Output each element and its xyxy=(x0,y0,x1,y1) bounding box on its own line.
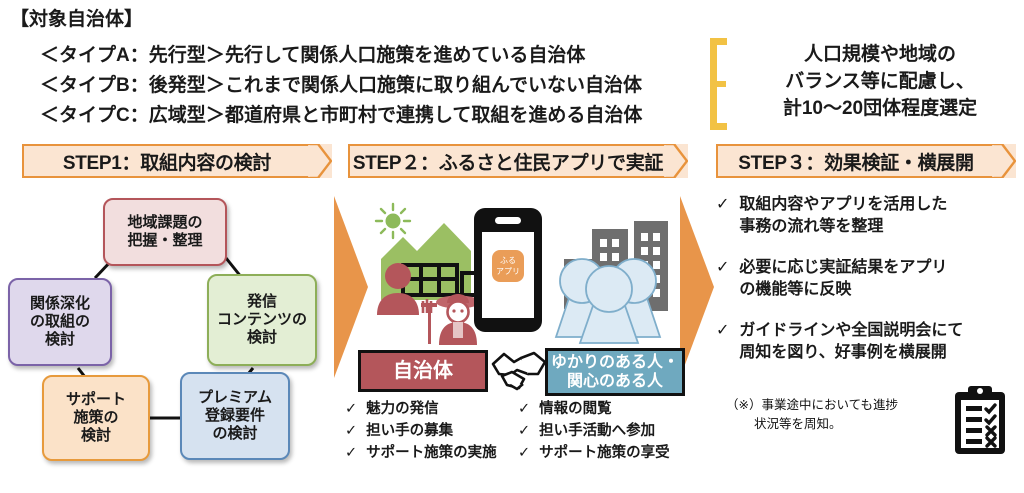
list-item-label: サポート施策の享受 xyxy=(539,442,670,464)
list-item: ✓サポート施策の実施 xyxy=(345,442,497,464)
app-icon xyxy=(492,250,524,282)
flow-box-support-shisaku[interactable]: サポート 施策の 検討 xyxy=(42,375,150,461)
type-a-desc: 先行して関係人口施策を進めている自治体 xyxy=(225,40,585,67)
list-item-label: 必要に応じ実証結果をアプリ の機能等に反映 xyxy=(739,257,1016,301)
type-a-label: ＜タイプA：先行型＞ xyxy=(40,40,225,67)
step3-item3-line2: 周知を図り、好事例を横展開 xyxy=(739,344,946,361)
check-icon: ✓ xyxy=(716,320,729,364)
flow-box-support-line3: 検討 xyxy=(66,427,126,445)
label-jichitai: 自治体 xyxy=(393,359,453,383)
step3-item3-line1: ガイドラインや全国説明会にて xyxy=(739,322,963,339)
type-row-c: ＜タイプC：広域型＞都道府県と市町村で連携して取組を進める自治体 xyxy=(40,100,642,127)
selection-note-line1: 人口規模や地域の xyxy=(735,42,1024,69)
list-item: ✓ ガイドラインや全国説明会にて 周知を図り、好事例を横展開 xyxy=(716,320,1016,364)
sun-icon xyxy=(376,204,410,238)
curly-brace-icon xyxy=(700,38,726,130)
step3-item2-line1: 必要に応じ実証結果をアプリ xyxy=(739,259,947,276)
step-banner-3[interactable]: STEP３：効果検証・横展開 xyxy=(716,144,1016,178)
flow-box-premium-touroku[interactable]: プレミアム 登録要件 の検討 xyxy=(180,372,290,460)
step3-item1-line1: 取組内容やアプリを活用した xyxy=(739,196,947,213)
list-item-label: サポート施策の実施 xyxy=(366,442,497,464)
city-people-illustration xyxy=(552,197,682,350)
app-icon-line1: ふる xyxy=(500,256,516,265)
step3-footnote-line1: （※）事業途中においても進捗 xyxy=(726,398,898,412)
flow-box-premium-line3: の検討 xyxy=(198,425,272,443)
flow-box-kankei-line3: 検討 xyxy=(30,331,90,349)
selection-note-line2: バランス等に配慮し、 xyxy=(735,69,1024,96)
flow-box-hasshin-line1: 発信 xyxy=(217,293,307,311)
type-c-desc: 都道府県と市町村で連携して取組を進める自治体 xyxy=(225,100,642,127)
flow-box-premium-line2: 登録要件 xyxy=(198,407,272,425)
flow-box-premium-line1: プレミアム xyxy=(198,389,272,407)
list-item: ✓ 取組内容やアプリを活用した 事務の流れ等を整理 xyxy=(716,194,1016,238)
list-item-label: 担い手の募集 xyxy=(366,420,453,442)
check-icon: ✓ xyxy=(345,442,357,464)
step3-item2-line2: の機能等に反映 xyxy=(739,281,851,298)
flow-box-chiiki-line2: 把握・整理 xyxy=(127,232,202,250)
step-banner-1[interactable]: STEP1：取組内容の検討 xyxy=(22,144,332,178)
flow-box-chiiki-line1: 地域課題の xyxy=(127,214,202,232)
step3-footnote: （※）事業途中においても進捗 状況等を周知。 xyxy=(726,396,941,434)
check-icon: ✓ xyxy=(518,420,530,442)
handshake-icon xyxy=(490,348,548,401)
smartphone-illustration: ふる アプリ xyxy=(472,206,544,339)
slide-canvas: 【対象自治体】 ＜タイプA：先行型＞先行して関係人口施策を進めている自治体 ＜タ… xyxy=(0,0,1024,493)
step3-checklist: ✓ 取組内容やアプリを活用した 事務の流れ等を整理 ✓ 必要に応じ実証結果をアプ… xyxy=(716,194,1016,383)
type-c-label: ＜タイプC：広域型＞ xyxy=(40,100,225,127)
label-yukari-line1: ゆかりのある人・ xyxy=(551,353,679,372)
step-1-label: STEP1：取組内容の検討 xyxy=(22,148,332,175)
people-group-icon xyxy=(556,259,660,343)
type-b-desc: これまで関係人口施策に取り組んでいない自治体 xyxy=(225,70,642,97)
check-icon: ✓ xyxy=(345,398,357,420)
selection-note-line3: 計10〜20団体程度選定 xyxy=(735,96,1024,123)
flow-box-chiiki-kadai[interactable]: 地域課題の 把握・整理 xyxy=(103,198,227,266)
clipboard-checklist-icon xyxy=(952,384,1008,461)
check-icon: ✓ xyxy=(345,420,357,442)
check-icon: ✓ xyxy=(518,398,530,420)
app-icon-line2: アプリ xyxy=(496,267,520,276)
flow-box-hasshin-contents[interactable]: 発信 コンテンツの 検討 xyxy=(207,274,317,366)
flow-box-hasshin-line3: 検討 xyxy=(217,329,307,347)
flow-box-hasshin-line2: コンテンツの xyxy=(217,311,307,329)
flow-box-kankei-shinka[interactable]: 関係深化 の取組の 検討 xyxy=(8,278,112,366)
label-box-jichitai: 自治体 xyxy=(358,350,488,392)
step2-right-checklist: ✓情報の閲覧 ✓担い手活動へ参加 ✓サポート施策の享受 xyxy=(518,398,670,464)
type-b-label: ＜タイプB：後発型＞ xyxy=(40,70,225,97)
list-item: ✓魅力の発信 xyxy=(345,398,497,420)
page-title: 【対象自治体】 xyxy=(10,4,143,31)
step3-item1-line2: 事務の流れ等を整理 xyxy=(739,218,883,235)
step-3-label: STEP３：効果検証・横展開 xyxy=(716,148,1016,175)
list-item-label: 取組内容やアプリを活用した 事務の流れ等を整理 xyxy=(739,194,1016,238)
list-item-label: 担い手活動へ参加 xyxy=(539,420,655,442)
label-box-yukari: ゆかりのある人・ 関心のある人 xyxy=(545,348,685,396)
list-item-label: 魅力の発信 xyxy=(366,398,439,420)
flow-box-support-line1: サポート xyxy=(66,391,126,409)
list-item: ✓担い手活動へ参加 xyxy=(518,420,670,442)
check-icon: ✓ xyxy=(518,442,530,464)
check-icon: ✓ xyxy=(716,257,729,301)
type-row-a: ＜タイプA：先行型＞先行して関係人口施策を進めている自治体 xyxy=(40,40,585,67)
step-2-label: STEP２：ふるさと住民アプリで実証 xyxy=(348,148,688,175)
label-yukari-line2: 関心のある人 xyxy=(551,372,679,391)
flow-box-support-line2: 施策の xyxy=(66,409,126,427)
list-item: ✓サポート施策の享受 xyxy=(518,442,670,464)
step2-left-checklist: ✓魅力の発信 ✓担い手の募集 ✓サポート施策の実施 xyxy=(345,398,497,464)
list-item: ✓担い手の募集 xyxy=(345,420,497,442)
step3-footnote-line2: 状況等を周知。 xyxy=(726,415,941,434)
step-banner-2[interactable]: STEP２：ふるさと住民アプリで実証 xyxy=(348,144,688,178)
flow-box-kankei-line2: の取組の xyxy=(30,313,90,331)
selection-note: 人口規模や地域の バランス等に配慮し、 計10〜20団体程度選定 xyxy=(735,42,1024,123)
check-icon: ✓ xyxy=(716,194,729,238)
type-row-b: ＜タイプB：後発型＞これまで関係人口施策に取り組んでいない自治体 xyxy=(40,70,642,97)
list-item: ✓ 必要に応じ実証結果をアプリ の機能等に反映 xyxy=(716,257,1016,301)
list-item: ✓情報の閲覧 xyxy=(518,398,670,420)
list-item-label: 情報の閲覧 xyxy=(539,398,612,420)
list-item-label: ガイドラインや全国説明会にて 周知を図り、好事例を横展開 xyxy=(739,320,1016,364)
flow-box-kankei-line1: 関係深化 xyxy=(30,295,90,313)
